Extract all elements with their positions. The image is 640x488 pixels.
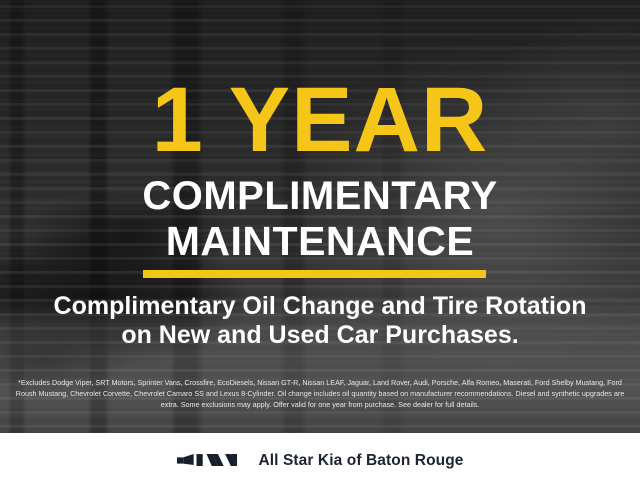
banner-content: 1 YEAR COMPLIMENTARY MAINTENANCE Complim… <box>0 0 640 433</box>
legal-disclaimer: *Excludes Dodge Viper, SRT Motors, Sprin… <box>12 377 628 410</box>
headline-year: 1 YEAR <box>0 74 640 166</box>
headline-complimentary: COMPLIMENTARY <box>0 176 640 216</box>
subheadline-line-1: Complimentary Oil Change and Tire Rotati… <box>0 293 640 320</box>
dealer-name: All Star Kia of Baton Rouge <box>258 452 463 470</box>
dealer-footer-bar: All Star Kia of Baton Rouge <box>0 433 640 488</box>
yellow-divider-rule <box>143 270 486 278</box>
kia-logo <box>176 452 238 469</box>
subheadline-line-2: on New and Used Car Purchases. <box>0 322 640 349</box>
promotional-banner: 1 YEAR COMPLIMENTARY MAINTENANCE Complim… <box>0 0 640 488</box>
headline-maintenance: MAINTENANCE <box>0 221 640 262</box>
